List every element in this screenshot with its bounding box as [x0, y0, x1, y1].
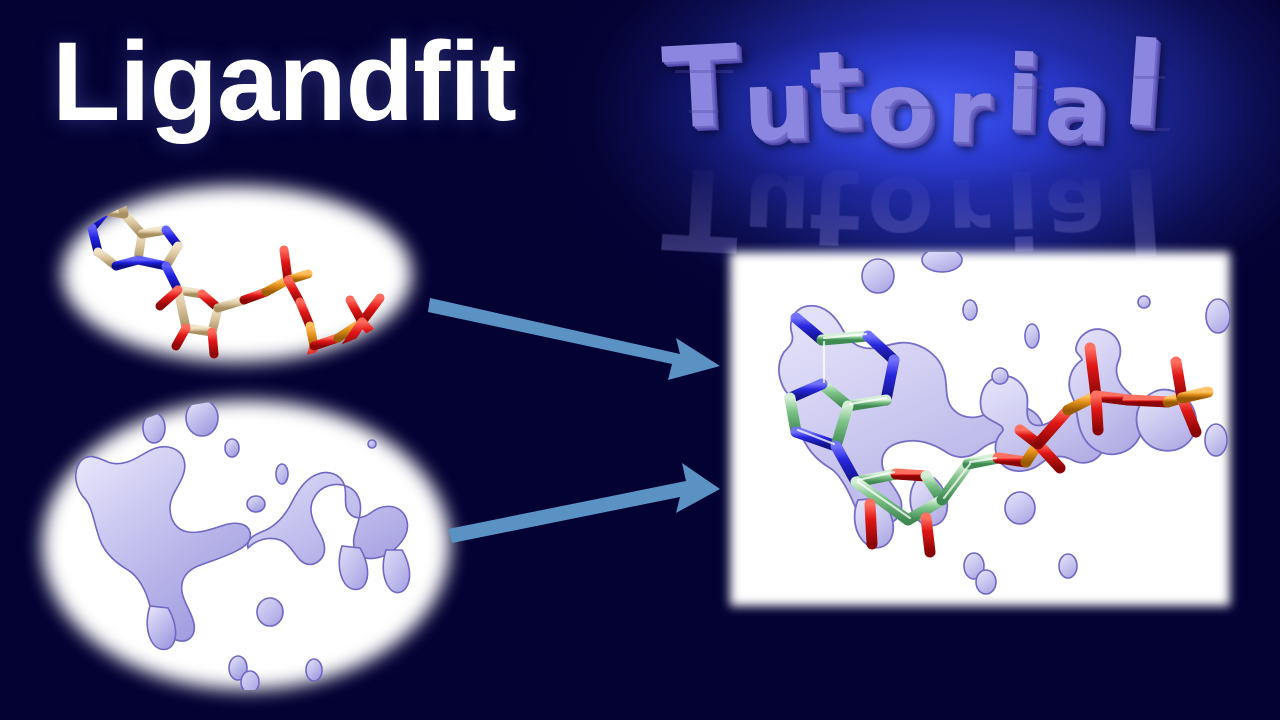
tutorial-letter-reflection: o — [867, 162, 934, 260]
tutorial-letter: a — [1043, 60, 1111, 157]
atp-stick-model — [62, 186, 412, 362]
arrow-ligand-to-result — [428, 288, 723, 388]
page-title: Ligandfit — [52, 26, 516, 138]
slide-canvas: Ligandfit T u t o r i a l T u t o r i a … — [0, 0, 1280, 720]
arrow-density-to-result — [448, 455, 723, 545]
tutorial-letter-reflection: T — [660, 150, 742, 266]
tutorial-letter-reflection: t — [808, 151, 863, 261]
tutorial-letter: u — [741, 57, 813, 155]
tutorial-letter: i — [1003, 41, 1042, 146]
tutorial-letter-reflection: i — [1003, 155, 1042, 260]
tutorial-letter: o — [867, 60, 934, 158]
tutorial-heading: T u t o r i a l T u t o r i a l — [655, 10, 1215, 240]
tutorial-letter-reflection: u — [741, 159, 813, 257]
tutorial-letter-reflection: a — [1043, 162, 1111, 259]
tutorial-letter: r — [945, 67, 991, 156]
density-isosurface — [42, 400, 450, 690]
fitted-result-viewport — [730, 252, 1230, 606]
electron-density-viewport — [42, 400, 450, 690]
fitted-ligand-in-density — [730, 252, 1230, 606]
tutorial-letter: T — [660, 30, 742, 146]
tutorial-letter-reflection: r — [945, 164, 991, 253]
ligand-model-viewport — [62, 186, 412, 362]
tutorial-letter-reflection: l — [1119, 149, 1167, 267]
